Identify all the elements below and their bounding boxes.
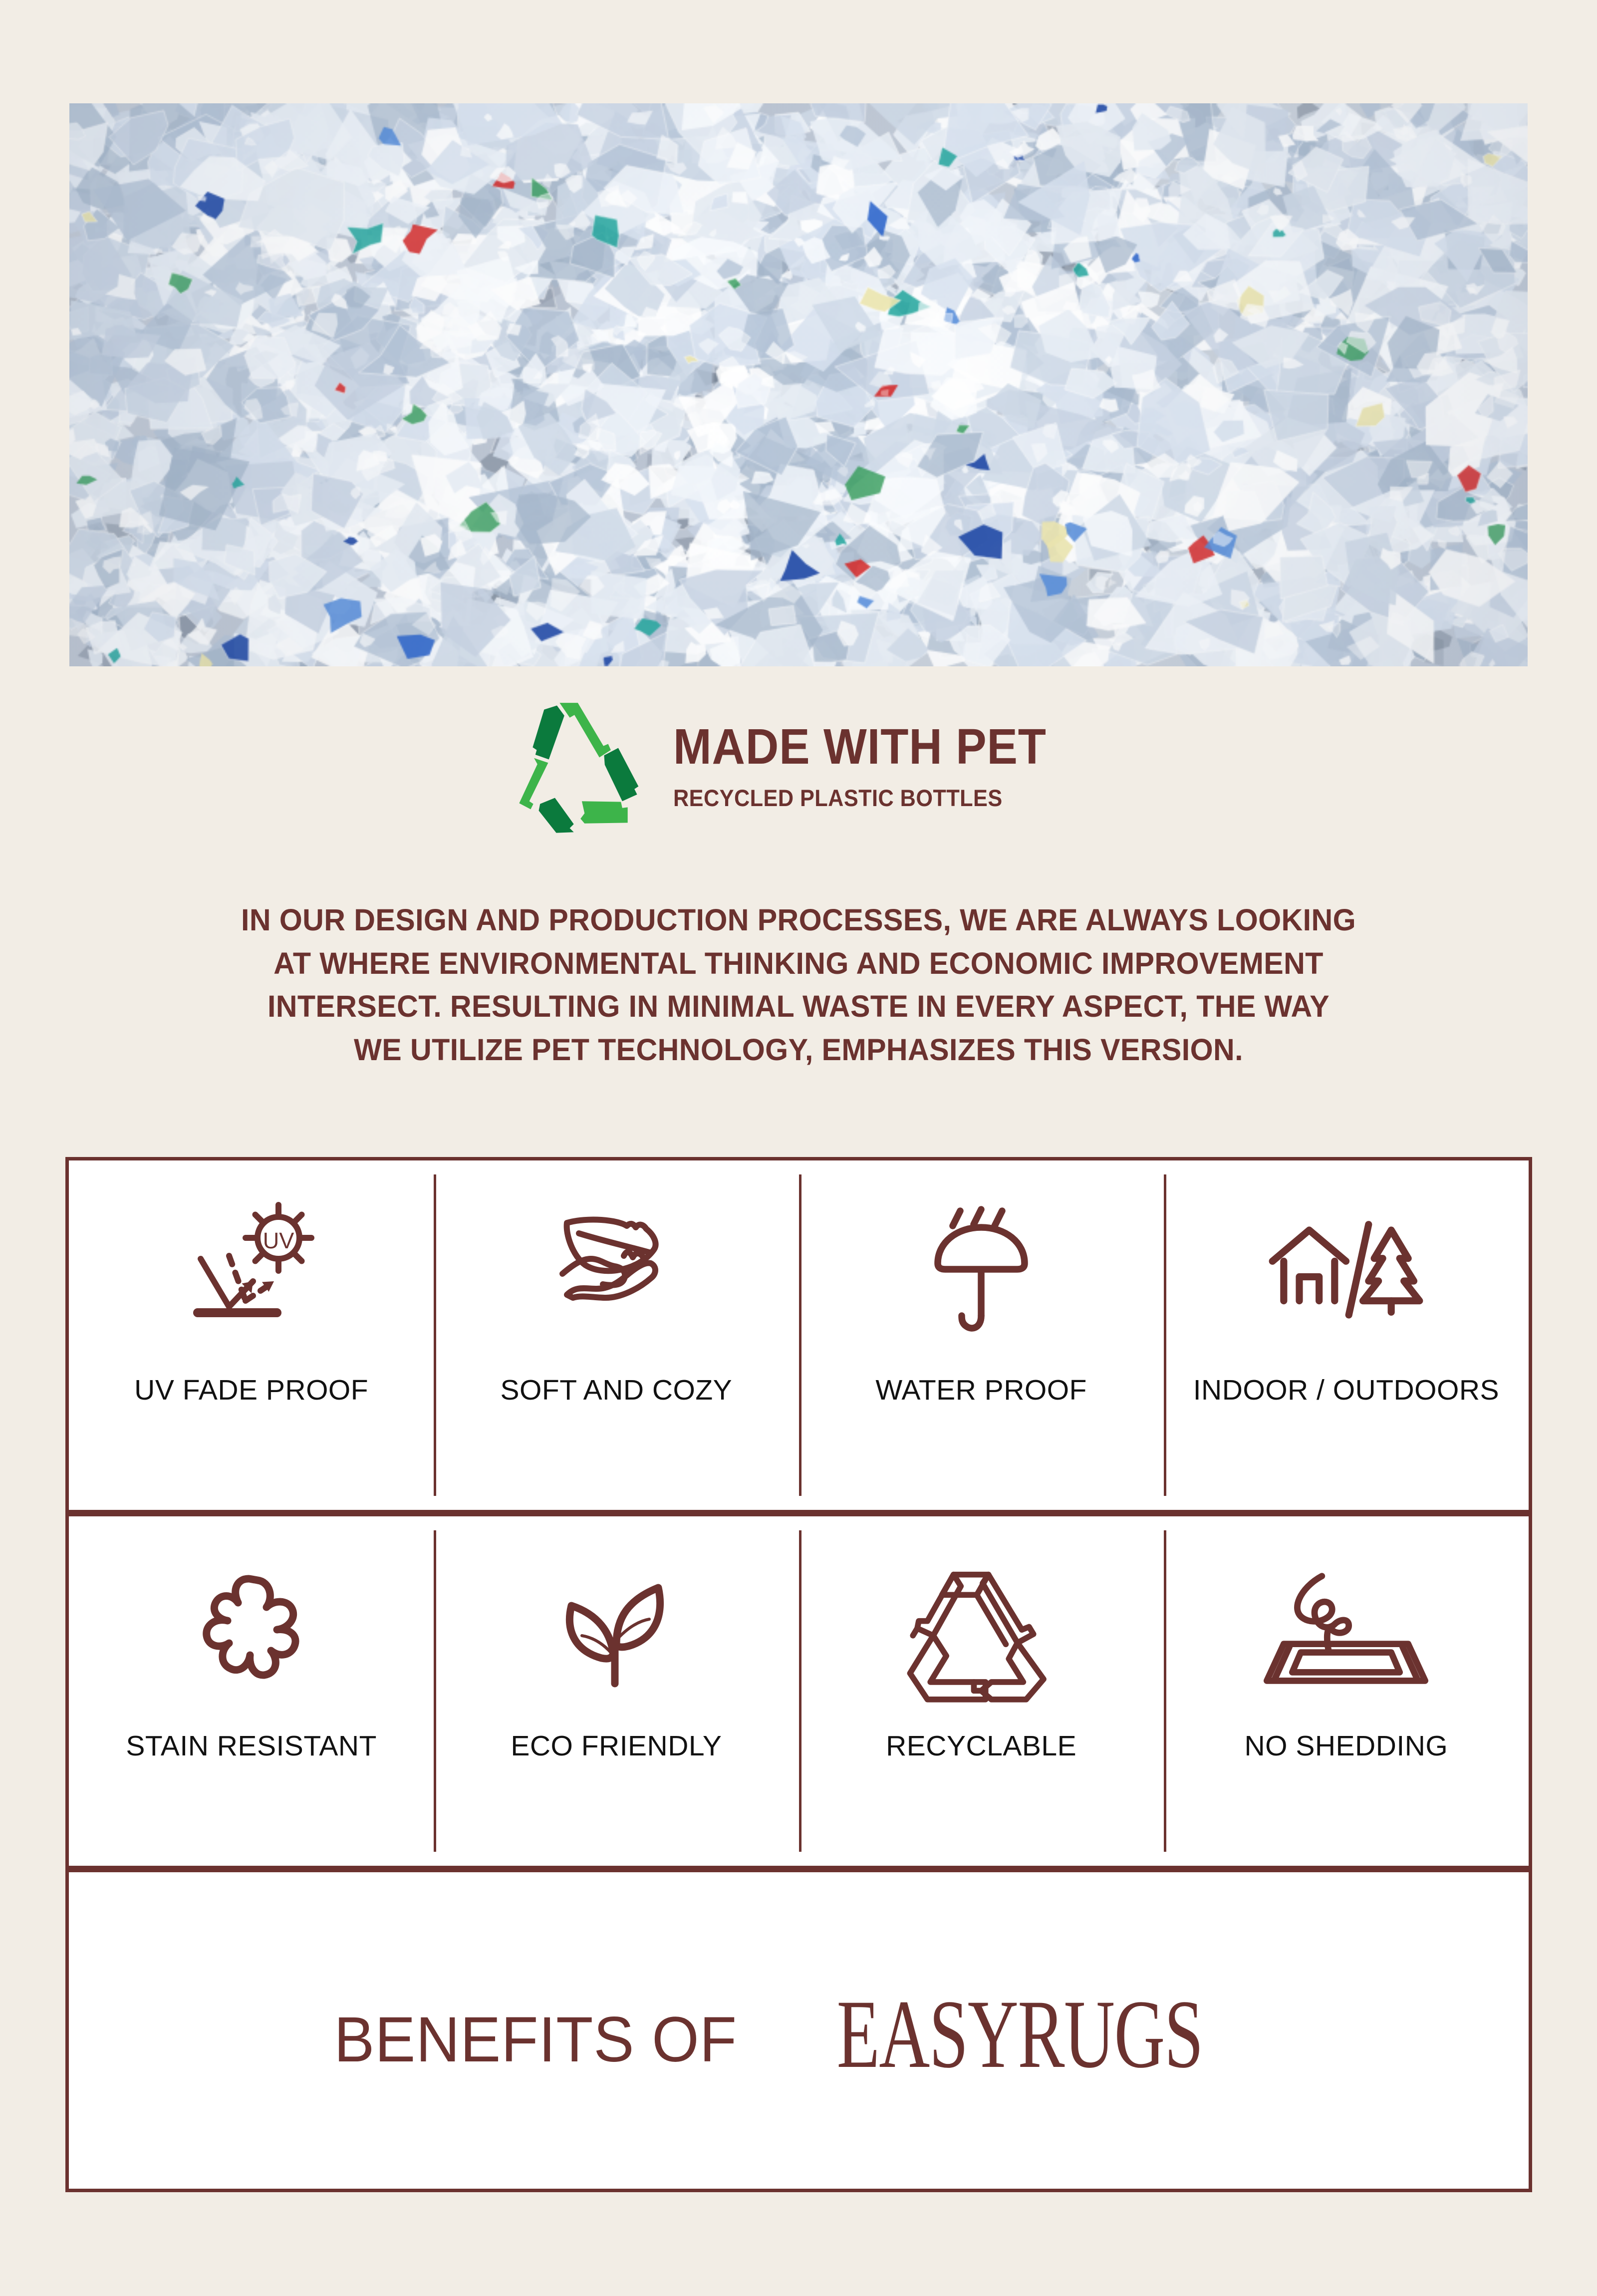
stain-splatter-icon bbox=[182, 1535, 321, 1730]
intro-line-3: INTERSECT. RESULTING IN MINIMAL WASTE IN… bbox=[101, 985, 1496, 1028]
made-with-pet-header: MADE WITH PET RECYCLED PLASTIC BOTTLES bbox=[0, 699, 1597, 834]
benefit-cell-recyclable[interactable]: RECYCLABLE bbox=[799, 1516, 1164, 1866]
benefit-cell-no-shedding[interactable]: NO SHEDDING bbox=[1164, 1516, 1529, 1866]
benefit-cell-uv-fade-proof[interactable]: UV UV FADE PROOF bbox=[69, 1160, 434, 1510]
benefit-label: STAIN RESISTANT bbox=[121, 1730, 382, 1763]
benefit-label: ECO FRIENDLY bbox=[506, 1730, 727, 1763]
svg-text:UV: UV bbox=[263, 1228, 294, 1253]
intro-line-2: AT WHERE ENVIRONMENTAL THINKING AND ECON… bbox=[101, 942, 1496, 985]
benefits-of-label: BENEFITS OF bbox=[334, 2003, 737, 2076]
row-divider-1 bbox=[69, 1510, 1529, 1516]
benefit-label: INDOOR / OUTDOORS bbox=[1188, 1374, 1504, 1407]
feather-on-hand-icon bbox=[534, 1179, 699, 1374]
benefit-label: UV FADE PROOF bbox=[129, 1374, 373, 1407]
rug-fiber-icon bbox=[1261, 1535, 1431, 1730]
brand-subtitle: RECYCLED PLASTIC BOTTLES bbox=[673, 784, 1047, 812]
pet-flakes-canvas bbox=[69, 103, 1528, 666]
benefit-label: RECYCLABLE bbox=[881, 1730, 1081, 1763]
benefit-cell-water-proof[interactable]: WATER PROOF bbox=[799, 1160, 1164, 1510]
intro-paragraph: IN OUR DESIGN AND PRODUCTION PROCESSES, … bbox=[101, 898, 1496, 1071]
pet-flakes-photo bbox=[69, 103, 1528, 666]
benefit-label: WATER PROOF bbox=[870, 1374, 1091, 1407]
benefits-card: UV UV FADE PROOF bbox=[65, 1157, 1532, 2192]
sprout-leaves-icon bbox=[541, 1535, 691, 1730]
benefit-label: SOFT AND COZY bbox=[496, 1374, 738, 1407]
benefit-cell-soft-and-cozy[interactable]: SOFT AND COZY bbox=[434, 1160, 798, 1510]
uv-sun-reflect-icon: UV bbox=[169, 1179, 334, 1374]
intro-line-4: WE UTILIZE PET TECHNOLOGY, EMPHASIZES TH… bbox=[101, 1028, 1496, 1072]
intro-line-1: IN OUR DESIGN AND PRODUCTION PROCESSES, … bbox=[101, 898, 1496, 942]
benefit-cell-eco-friendly[interactable]: ECO FRIENDLY bbox=[434, 1516, 798, 1866]
benefit-label: NO SHEDDING bbox=[1240, 1730, 1453, 1763]
benefit-cell-stain-resistant[interactable]: STAIN RESISTANT bbox=[69, 1516, 434, 1866]
benefits-footer: BENEFITS OF EASYRUGS bbox=[69, 1872, 1529, 2197]
benefits-row-1: UV UV FADE PROOF bbox=[69, 1160, 1529, 1510]
easyrugs-wordmark: EASYRUGS bbox=[837, 1986, 1203, 2083]
recycle-bottles-triangle-icon bbox=[901, 1535, 1061, 1730]
benefits-row-2: STAIN RESISTANT bbox=[69, 1516, 1529, 1866]
row-divider-2 bbox=[69, 1866, 1529, 1872]
brand-title: MADE WITH PET bbox=[673, 721, 1047, 773]
recycle-bottles-icon bbox=[519, 699, 653, 834]
benefit-cell-indoor-outdoors[interactable]: INDOOR / OUTDOORS bbox=[1164, 1160, 1529, 1510]
poster-page: MADE WITH PET RECYCLED PLASTIC BOTTLES I… bbox=[0, 0, 1597, 2296]
house-tree-icon bbox=[1261, 1179, 1431, 1374]
umbrella-rain-icon bbox=[904, 1179, 1059, 1374]
